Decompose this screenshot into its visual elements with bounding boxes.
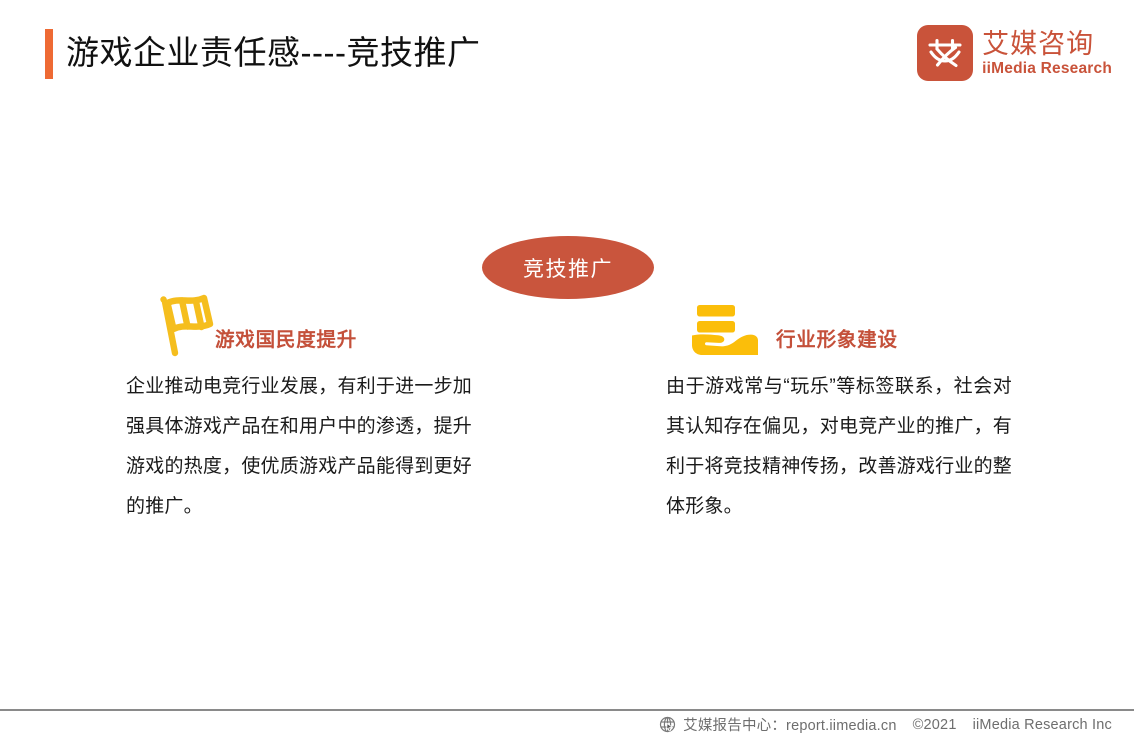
- logo-name-cn: 艾媒咨询: [982, 29, 1112, 59]
- brand-logo: 艾媒咨询 iiMedia Research: [917, 25, 1112, 81]
- branch-header: 游戏国民度提升: [126, 292, 526, 356]
- title-accent-bar: [45, 29, 53, 79]
- logo-name-en: iiMedia Research: [982, 59, 1112, 78]
- footer-company: iiMedia Research Inc: [973, 717, 1112, 733]
- logo-text-block: 艾媒咨询 iiMedia Research: [982, 29, 1112, 78]
- globe-cursor-icon: [659, 716, 676, 733]
- footer-site-text: 艾媒报告中心：report.iimedia.cn: [683, 714, 897, 735]
- center-topic-node: 竞技推广: [482, 236, 654, 299]
- branch-title: 游戏国民度提升: [215, 323, 357, 352]
- page-title: 游戏企业责任感----竞技推广: [66, 28, 480, 78]
- branch-industry-image: 行业形象建设 由于游戏常与“玩乐”等标签联系，社会对其认知存在偏见，对电竞产业的…: [666, 292, 1066, 527]
- branch-body-text: 企业推动电竞行业发展，有利于进一步加强具体游戏产品在和用户中的渗透，提升游戏的热…: [126, 367, 472, 527]
- slide-canvas: 游戏企业责任感----竞技推广 艾媒咨询 iiMedia Research 竞技…: [0, 0, 1134, 737]
- center-topic-label: 竞技推广: [523, 253, 613, 283]
- branch-body-text: 由于游戏常与“玩乐”等标签联系，社会对其认知存在偏见，对电竞产业的推广，有利于将…: [666, 367, 1012, 527]
- footer-divider: [0, 709, 1134, 711]
- branch-game-popularity: 游戏国民度提升 企业推动电竞行业发展，有利于进一步加强具体游戏产品在和用户中的渗…: [126, 292, 526, 527]
- footer: 艾媒报告中心：report.iimedia.cn ©2021 iiMedia R…: [0, 712, 1134, 737]
- iimedia-logo-icon: [917, 25, 973, 81]
- hand-holding-money-icon: [688, 304, 760, 356]
- branch-header: 行业形象建设: [666, 292, 1066, 356]
- footer-copyright: ©2021: [913, 717, 957, 733]
- branch-title: 行业形象建设: [776, 323, 898, 352]
